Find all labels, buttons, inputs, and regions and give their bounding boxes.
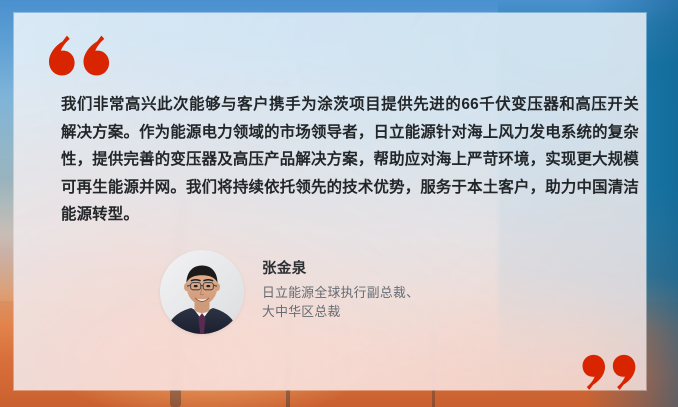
- person-name: 张金泉: [262, 258, 419, 280]
- quote-close-icon: [580, 353, 638, 391]
- quote-card: 我们非常高兴此次能够与客户携手为涂茨项目提供先进的66千伏变压器和高压开关解决方…: [14, 13, 646, 390]
- attribution: 张金泉 日立能源全球执行副总裁、 大中华区总裁: [160, 250, 419, 334]
- quote-card-screenshot: 我们非常高兴此次能够与客户携手为涂茨项目提供先进的66千伏变压器和高压开关解决方…: [0, 0, 678, 407]
- quote-open-icon: [46, 35, 112, 77]
- attribution-text: 张金泉 日立能源全球执行副总裁、 大中华区总裁: [262, 250, 419, 321]
- person-title: 日立能源全球执行副总裁、 大中华区总裁: [262, 283, 419, 321]
- avatar: [160, 250, 244, 334]
- quote-body-text: 我们非常高兴此次能够与客户携手为涂茨项目提供先进的66千伏变压器和高压开关解决方…: [61, 91, 639, 229]
